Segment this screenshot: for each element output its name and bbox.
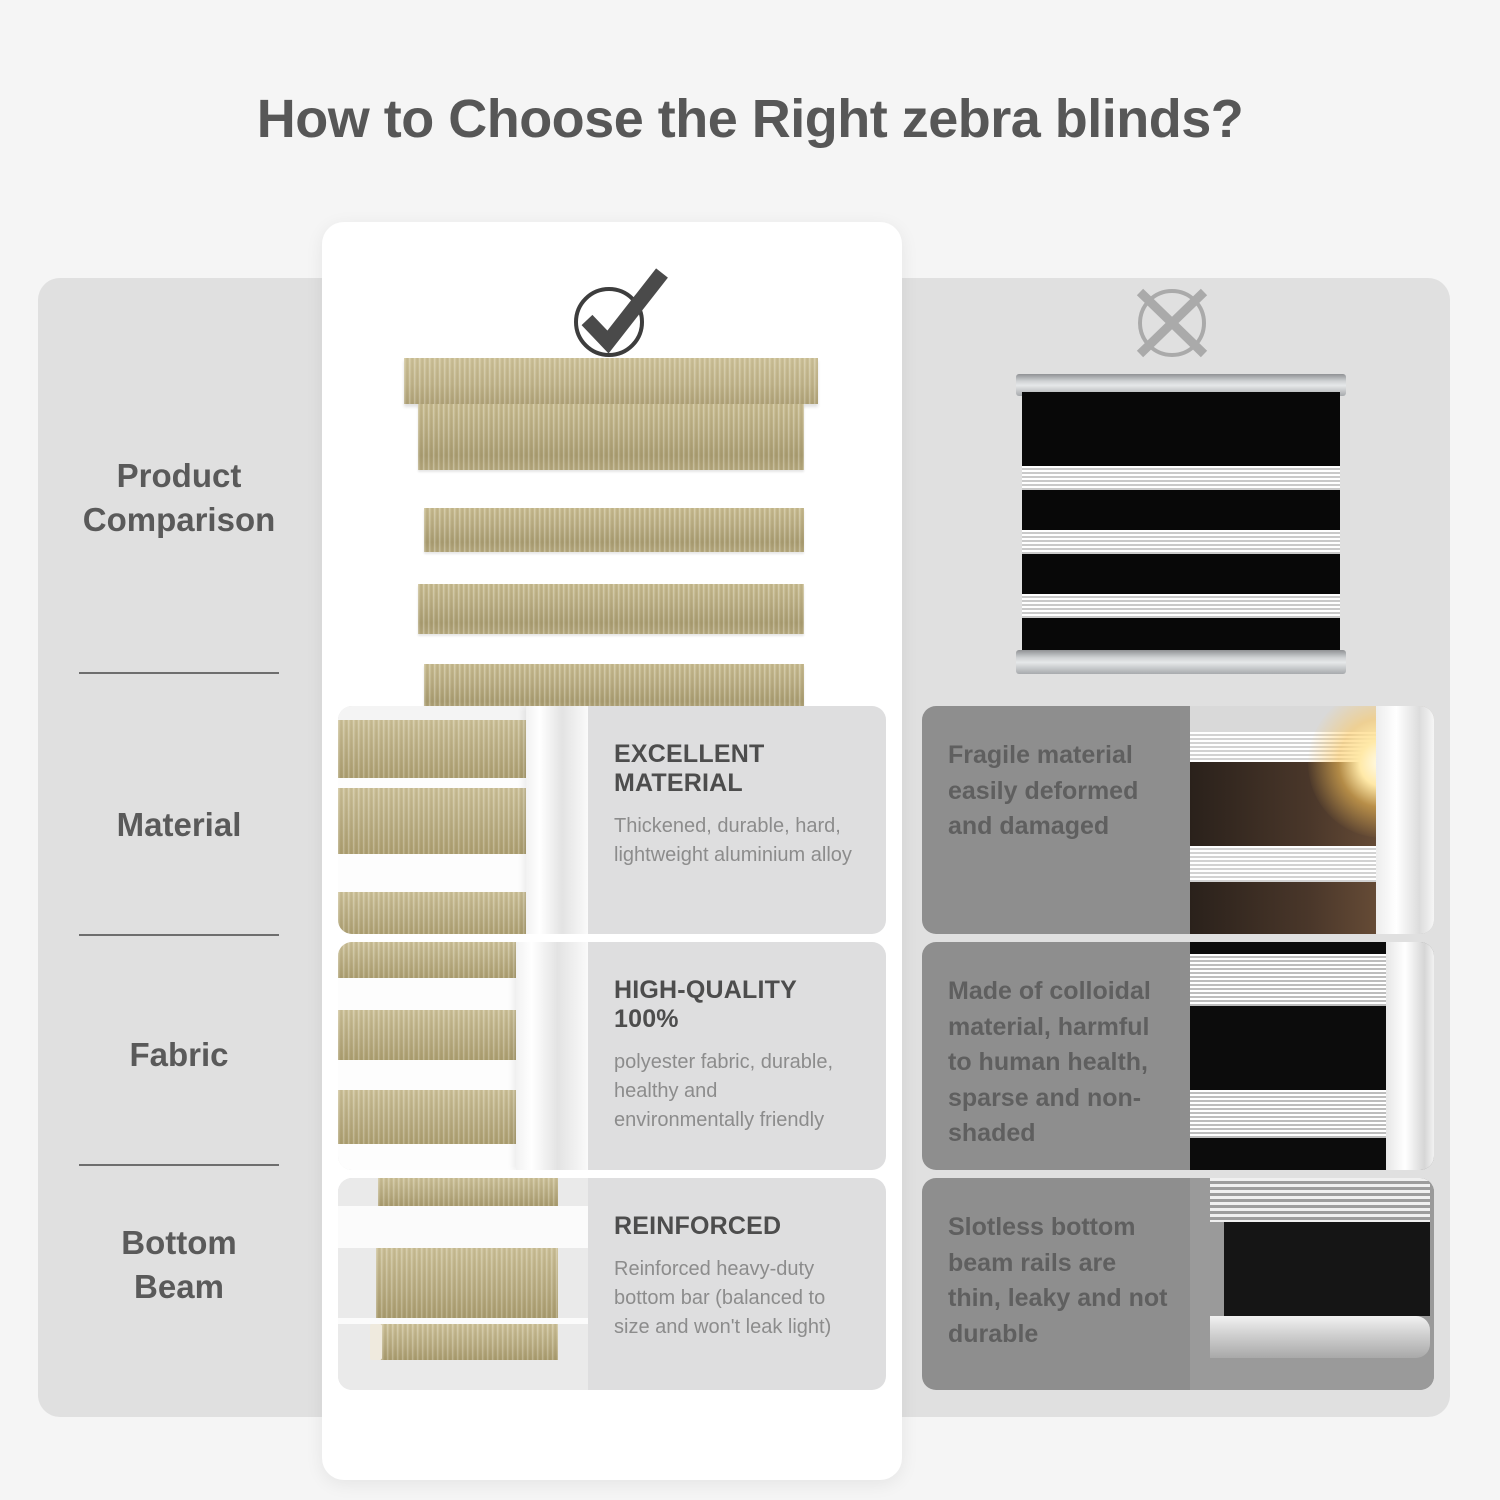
blind-sheer-stripe — [1022, 594, 1340, 618]
feature-body: Thickened, durable, hard, lightweight al… — [614, 812, 860, 870]
blind-sheer-stripe — [1022, 466, 1340, 490]
feature-body: polyester fabric, durable, healthy and e… — [614, 1048, 860, 1135]
bad-feature-fabric-photo — [1190, 942, 1434, 1170]
bad-feature-bottom-beam-photo — [1190, 1178, 1434, 1390]
infographic-root: How to Choose the Right zebra blinds? Pr… — [0, 0, 1500, 1500]
row-divider-2 — [79, 934, 279, 936]
bad-feature-material-text: Fragile material easily deformed and dam… — [922, 706, 1190, 934]
row-divider-3 — [79, 1164, 279, 1166]
bad-feature-fabric-text: Made of colloidal material, harmful to h… — [922, 942, 1190, 1170]
good-feature-material-text: EXCELLENT MATERIAL Thickened, durable, h… — [588, 706, 886, 934]
row-label-line2: Beam — [38, 1265, 320, 1309]
row-label-line1: Bottom — [38, 1221, 320, 1265]
feature-text: Slotless bottom beam rails are thin, lea… — [948, 1210, 1172, 1352]
row-label-line2: Comparison — [38, 498, 320, 542]
row-label-line1: Material — [38, 803, 320, 847]
bad-feature-bottom-beam: Slotless bottom beam rails are thin, lea… — [922, 1178, 1434, 1390]
good-feature-material: EXCELLENT MATERIAL Thickened, durable, h… — [338, 706, 886, 934]
blind-slat — [424, 508, 804, 552]
row-label-column: Product Comparison Material Fabric Botto… — [38, 278, 320, 1417]
row-label-line1: Fabric — [38, 1033, 320, 1077]
blind-fabric-body — [1022, 392, 1340, 652]
feature-text: Fragile material easily deformed and dam… — [948, 738, 1172, 845]
row-label-bottom-beam: Bottom Beam — [38, 1221, 320, 1308]
good-feature-fabric-photo — [338, 942, 588, 1170]
feature-title: REINFORCED — [614, 1212, 860, 1241]
good-feature-fabric-text: HIGH-QUALITY 100% polyester fabric, dura… — [588, 942, 886, 1170]
blind-valance — [404, 358, 818, 404]
feature-text: Made of colloidal material, harmful to h… — [948, 974, 1172, 1152]
bad-feature-material: Fragile material easily deformed and dam… — [922, 706, 1434, 934]
feature-body: Reinforced heavy-duty bottom bar (balanc… — [614, 1255, 860, 1342]
good-feature-fabric: HIGH-QUALITY 100% polyester fabric, dura… — [338, 942, 886, 1170]
feature-title: EXCELLENT MATERIAL — [614, 740, 860, 798]
row-divider-1 — [79, 672, 279, 674]
good-feature-bottom-beam: REINFORCED Reinforced heavy-duty bottom … — [338, 1178, 886, 1390]
bad-feature-fabric: Made of colloidal material, harmful to h… — [922, 942, 1434, 1170]
blind-slat — [418, 584, 804, 634]
good-feature-material-photo — [338, 706, 588, 934]
check-circle-icon — [563, 268, 669, 360]
feature-title: HIGH-QUALITY 100% — [614, 976, 860, 1034]
row-label-line1: Product — [38, 454, 320, 498]
blind-slat — [418, 404, 804, 470]
good-feature-bottom-beam-photo — [338, 1178, 588, 1390]
bad-feature-bottom-beam-text: Slotless bottom beam rails are thin, lea… — [922, 1178, 1190, 1390]
blind-slat — [424, 664, 804, 712]
cross-circle-icon — [1126, 282, 1218, 364]
bad-hero-product-image — [1016, 374, 1346, 674]
good-hero-product-image — [406, 358, 816, 698]
blind-sheer-stripe — [1022, 530, 1340, 554]
good-feature-bottom-beam-text: REINFORCED Reinforced heavy-duty bottom … — [588, 1178, 886, 1390]
row-label-fabric: Fabric — [38, 1033, 320, 1077]
blind-bottom-rail — [1016, 650, 1346, 674]
row-label-material: Material — [38, 803, 320, 847]
row-label-product-comparison: Product Comparison — [38, 454, 320, 541]
page-title: How to Choose the Right zebra blinds? — [0, 88, 1500, 150]
bad-feature-material-photo — [1190, 706, 1434, 934]
